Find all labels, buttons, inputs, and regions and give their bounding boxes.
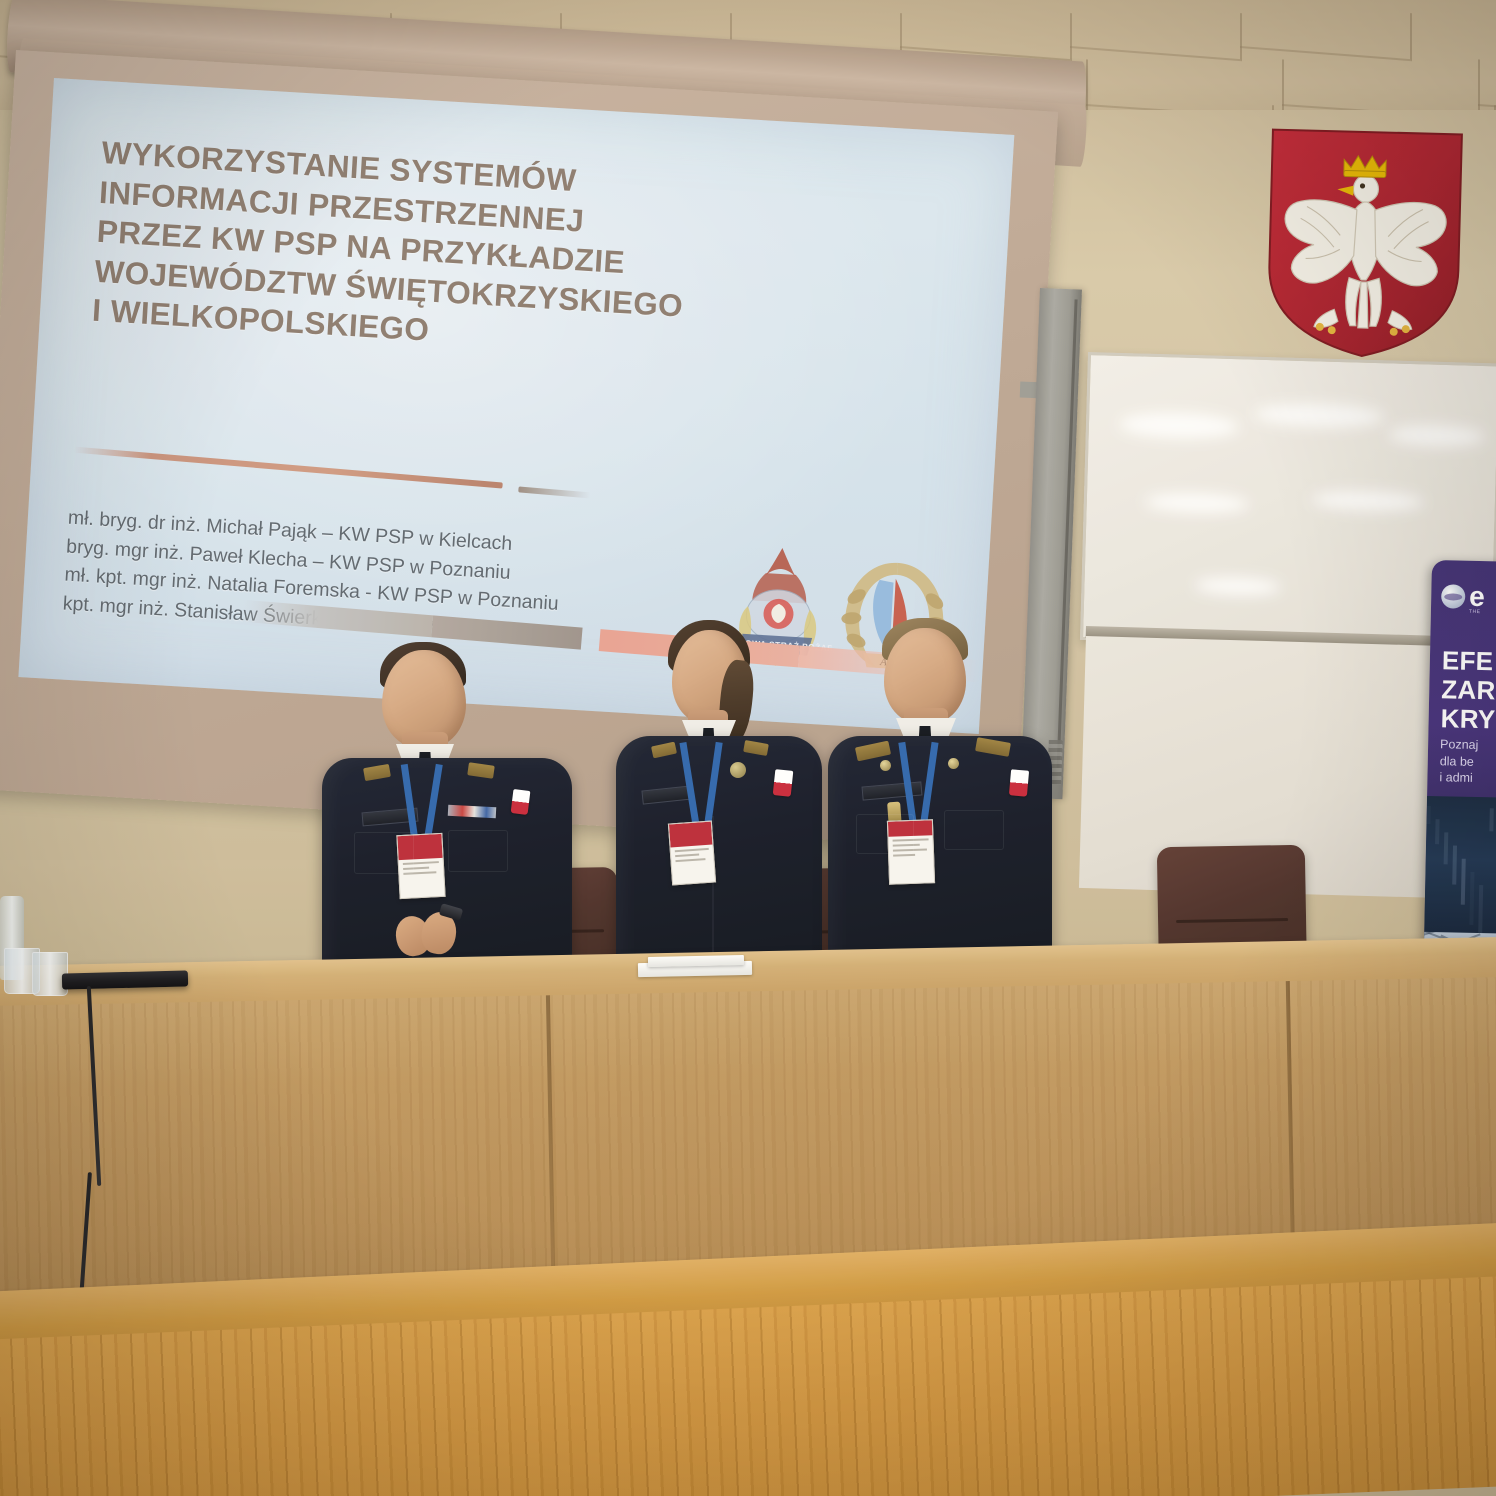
ceiling-light-reflection: [1194, 576, 1280, 596]
ceiling-light-reflection: [1389, 423, 1486, 448]
flag-shoulder-patch: [1009, 769, 1029, 796]
conference-hall-photo: WYKORZYSTANIE SYSTEMÓWINFORMACJI PRZESTR…: [0, 0, 1496, 1496]
banner-headline-line: KRY: [1440, 704, 1495, 734]
conference-badge: [668, 821, 716, 886]
pocket-left: [354, 832, 414, 874]
laptop: [62, 970, 188, 989]
slide-title: WYKORZYSTANIE SYSTEMÓWINFORMACJI PRZESTR…: [91, 133, 921, 379]
slide-divider-rule-secondary: [518, 486, 590, 498]
banner-subtext-line: Poznaj: [1440, 736, 1479, 753]
banner-photo-streak: [1435, 819, 1440, 844]
rollup-banner: e THE EFEZARKRY Poznajdla bei admi: [1423, 560, 1496, 993]
banner-subtext-line: dla be: [1440, 753, 1479, 770]
epaulette-star-left: [880, 760, 891, 771]
banner-subtext: Poznajdla bei admi: [1439, 736, 1478, 786]
ceiling-light-reflection: [1254, 402, 1385, 430]
badge-text-line: [675, 848, 709, 852]
ceiling-light-reflection: [1119, 411, 1240, 440]
badge-text-line: [893, 854, 915, 857]
badge-text-line: [675, 858, 705, 862]
banner-headline-line: EFE: [1442, 646, 1496, 676]
officer-right: [826, 614, 1056, 988]
flag-shoulder-patch: [511, 789, 531, 815]
banner-photo-streak: [1469, 872, 1474, 925]
banner-brand-letter: e: [1469, 583, 1485, 611]
ceiling-light-reflection: [1145, 492, 1250, 515]
banner-tagline: THE: [1469, 609, 1481, 615]
banner-subtext-line: i admi: [1439, 769, 1478, 786]
banner-photo-streak: [1461, 859, 1466, 905]
pocket-left: [856, 814, 914, 854]
slide-divider-rule: [74, 447, 503, 489]
ceiling-light-reflection: [1312, 489, 1425, 512]
flag-shoulder-patch: [773, 769, 794, 797]
pocket-right: [448, 830, 508, 872]
officer-center: [608, 616, 828, 988]
banner-headline: EFEZARKRY: [1440, 646, 1496, 734]
uniform-insignia: [730, 762, 746, 778]
badge-text-line: [675, 853, 699, 857]
banner-photo-streak: [1452, 846, 1457, 885]
officer-left: [318, 640, 578, 990]
jacket-seam: [712, 816, 714, 966]
epaulette-star-right: [948, 758, 959, 769]
banner-photo-streak: [1478, 885, 1483, 939]
papers-on-desk: [648, 955, 744, 967]
banner-photo-upper: [1424, 796, 1496, 939]
banner-photo-streak: [1489, 808, 1493, 831]
badge-header: [669, 822, 712, 848]
banner-headline-line: ZAR: [1441, 675, 1496, 705]
globe-icon: [1441, 584, 1465, 608]
footer-bar-gap: [581, 628, 601, 651]
banner-logo: e: [1441, 582, 1485, 611]
banner-photo-streak: [1426, 806, 1430, 824]
pocket-right: [944, 810, 1004, 850]
banner-photo-streak: [1444, 832, 1449, 864]
polish-coat-of-arms: [1259, 125, 1470, 362]
